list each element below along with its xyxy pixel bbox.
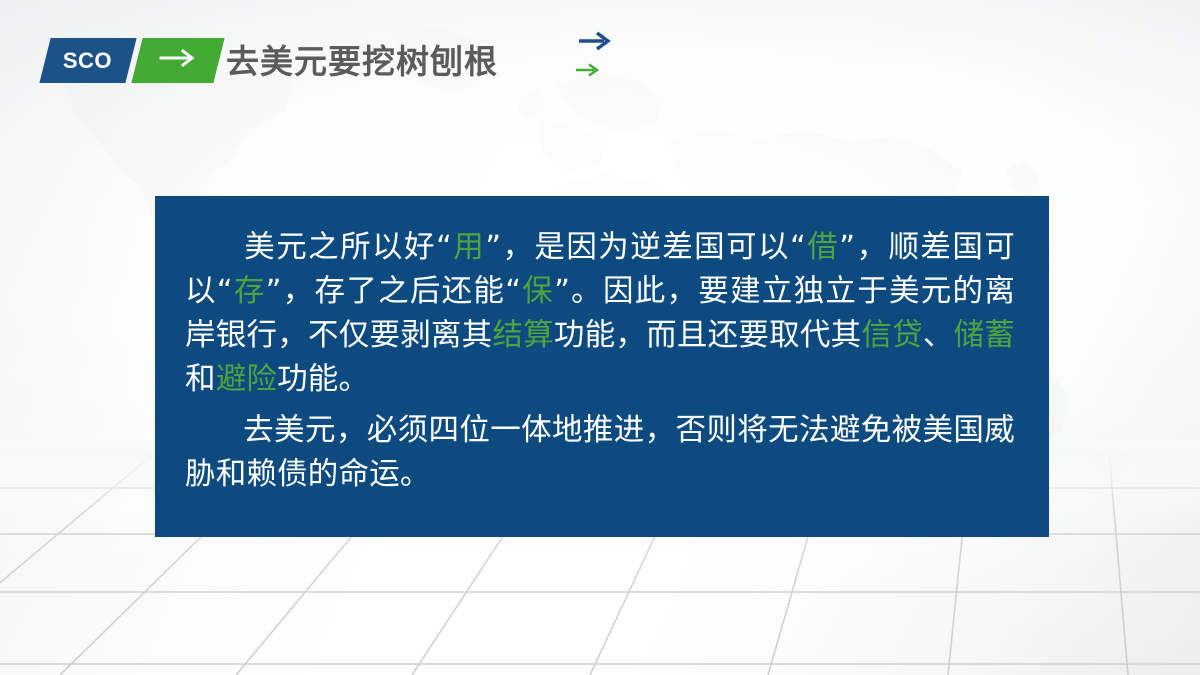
arrow-right-small-icon: [575, 62, 601, 83]
decorative-arrows: [575, 30, 635, 86]
paragraph-1: 美元之所以好“用”，是因为逆差国可以“借”，顺差国可以“存”，存了之后还能“保”…: [185, 226, 1015, 402]
highlighted-term: 借: [806, 230, 839, 265]
highlighted-term: 信贷: [861, 318, 922, 353]
highlighted-term: 避险: [216, 362, 277, 397]
paragraph-2: 去美元，必须四位一体地推进，否则将无法避免被美国威胁和赖债的命运。: [185, 409, 1015, 497]
highlighted-term: 用: [452, 230, 485, 265]
logo-blue-shape: SCO: [39, 38, 136, 83]
arrow-right-icon: [159, 48, 197, 73]
page-title: 去美元要挖树刨根: [226, 40, 498, 84]
highlighted-term: 保: [521, 274, 554, 309]
content-panel-inner: 美元之所以好“用”，是因为逆差国可以“借”，顺差国可以“存”，存了之后还能“保”…: [155, 196, 1049, 497]
body-text-run: ”，是因为逆差国可以“: [485, 230, 806, 265]
body-text-run: 美元之所以好“: [243, 230, 452, 265]
body-text-run: 功能。: [277, 362, 369, 397]
body-text-run: ”，存了之后还能“: [266, 274, 522, 309]
slide-canvas: SCO 去美元要挖树刨根: [0, 0, 1200, 675]
highlighted-term: 储蓄: [954, 318, 1015, 353]
logo-text: SCO: [63, 48, 112, 74]
sco-logo[interactable]: SCO: [45, 38, 219, 83]
logo-green-shape: [131, 38, 224, 83]
highlighted-term: 存: [233, 274, 266, 309]
body-text-run: 和: [185, 362, 216, 397]
content-panel: 美元之所以好“用”，是因为逆差国可以“借”，顺差国可以“存”，存了之后还能“保”…: [155, 196, 1049, 537]
body-text-run: 功能，而且还要取代其: [554, 318, 861, 353]
body-text-run: 、: [923, 318, 954, 353]
arrow-right-large-icon: [578, 30, 612, 57]
highlighted-term: 结算: [492, 318, 553, 353]
body-text-run: 去美元，必须四位一体地推进，否则将无法避免被美国威胁和赖债的命运。: [185, 413, 1015, 492]
slide-header: SCO 去美元要挖树刨根: [0, 0, 1200, 110]
